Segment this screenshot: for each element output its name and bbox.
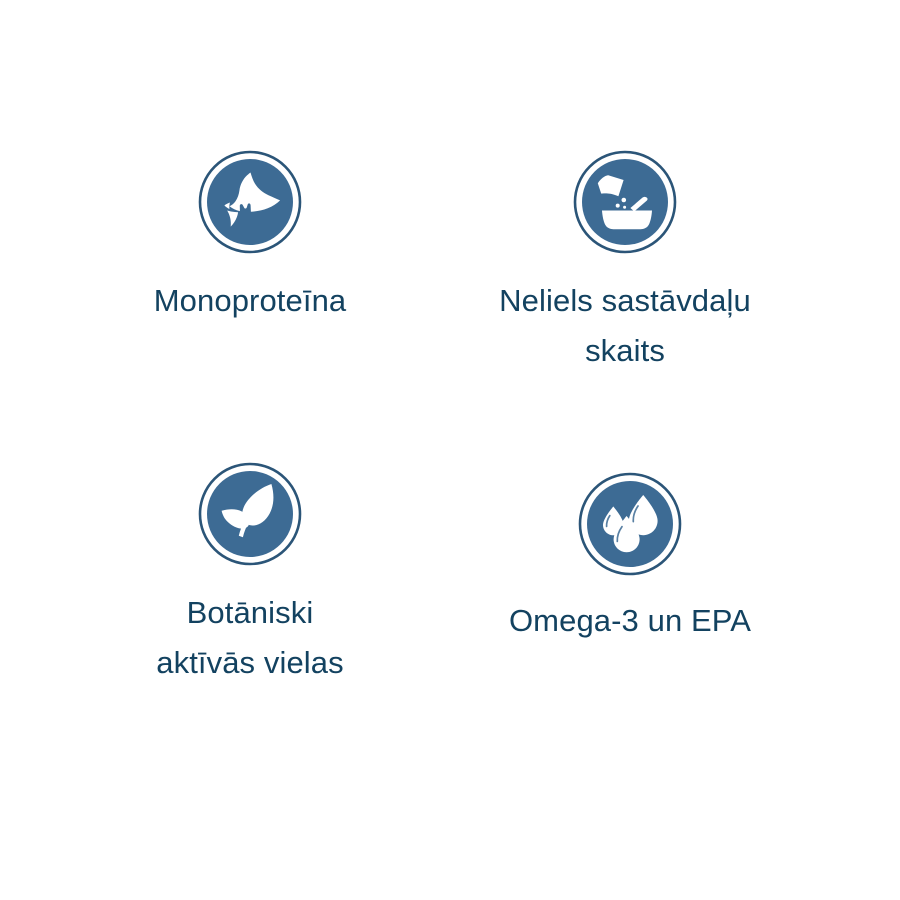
- feature-label: Monoproteīna: [154, 276, 347, 326]
- leaves-icon: [198, 462, 302, 566]
- feature-label: Botāniski aktīvās vielas: [156, 588, 343, 688]
- feature-grid: Monoproteīna Nel: [0, 0, 900, 900]
- feature-label: Omega-3 un EPA: [509, 596, 751, 646]
- feature-label: Neliels sastāvdaļu skaits: [499, 276, 751, 376]
- feature-item-botanical-actives: Botāniski aktīvās vielas: [60, 462, 440, 688]
- feature-item-ingredient-count: Neliels sastāvdaļu skaits: [435, 150, 815, 376]
- fish-icon: [198, 150, 302, 254]
- water-droplets-icon: [578, 472, 682, 576]
- bowl-with-sachet-icon: [573, 150, 677, 254]
- feature-item-omega-3-epa: Omega-3 un EPA: [440, 472, 820, 646]
- feature-item-monoprotein: Monoproteīna: [60, 150, 440, 326]
